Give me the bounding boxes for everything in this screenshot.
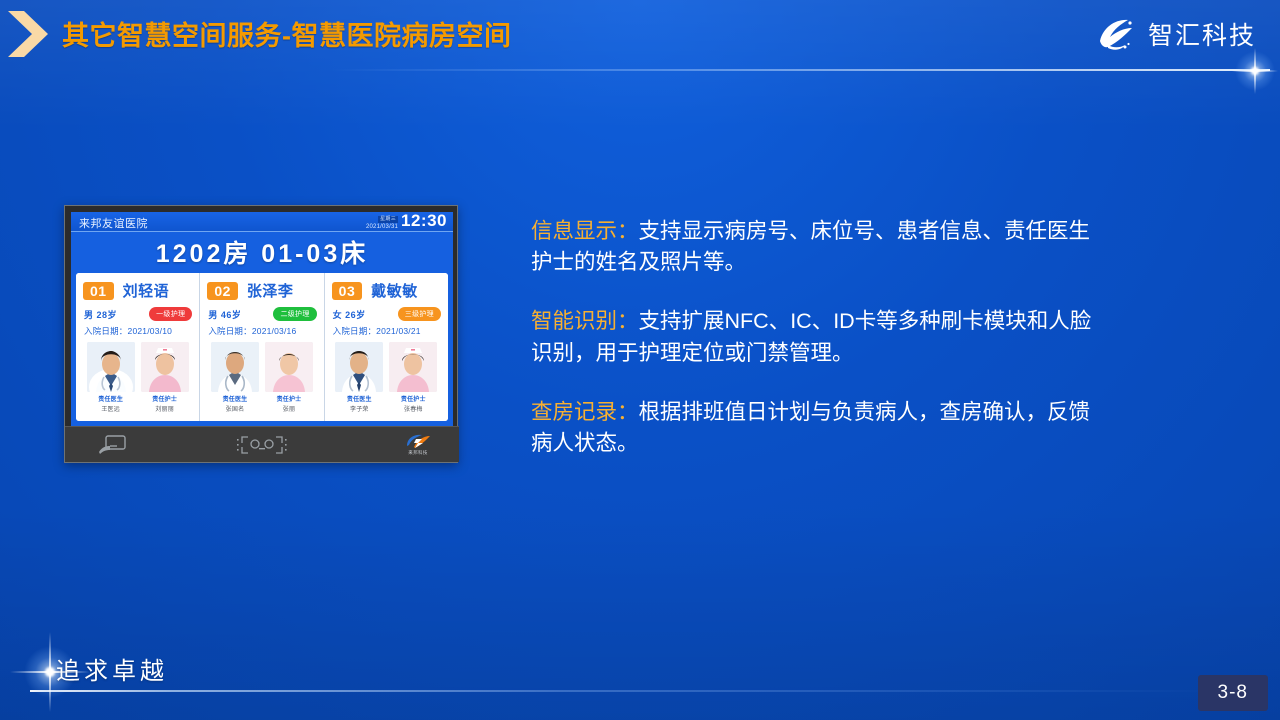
doctor-block: 责任医生 李子荣 — [335, 342, 383, 413]
staff-row: 责任医生 王医远 — [80, 342, 195, 413]
admit-date-value: 2021/03/21 — [376, 326, 421, 336]
footer-slogan: 追求卓越 — [56, 651, 168, 686]
bullet-text-line1: 支持扩展NFC、IC、ID卡等多种刷卡模块和人脸 — [639, 309, 1092, 333]
doctor-block: 责任医生 张国名 — [211, 342, 259, 413]
vendor-logo-text: 来邦科技 — [408, 450, 428, 456]
bullet-label: 信息显示： — [531, 219, 639, 243]
admit-date-label: 入院日期： — [333, 326, 377, 336]
bullet-text-line1: 根据排班值日计划与负责病人，查房确认，反馈 — [639, 400, 1091, 424]
slide-header: 其它智慧空间服务-智慧医院病房空间 智汇科技 — [0, 0, 1280, 70]
nurse-role-label: 责任护士 — [401, 394, 426, 403]
admit-date-row: 入院日期：2021/03/16 — [204, 325, 319, 337]
bullet-label: 智能识别： — [531, 309, 639, 333]
page-title: 其它智慧空间服务-智慧医院病房空间 — [62, 14, 512, 53]
patient-meta-row: 女 26岁 三级护理 — [329, 307, 444, 321]
screen-status-bar: 来邦友谊医院 星期三 2021/03/31 12:30 — [71, 212, 453, 232]
device-screen: 来邦友谊医院 星期三 2021/03/31 12:30 1202房 01-03床… — [71, 212, 453, 427]
nurse-photo — [265, 342, 313, 392]
nurse-block: 责任护士 刘丽丽 — [141, 342, 189, 413]
doctor-role-label: 责任医生 — [223, 394, 248, 403]
doctor-photo — [211, 342, 259, 392]
admit-date-label: 入院日期： — [84, 326, 128, 336]
doctor-photo — [87, 342, 135, 392]
bed-card-header: 03 戴敏敏 — [329, 280, 444, 301]
staff-row: 责任医生 张国名 责任护士 张丽 — [204, 342, 319, 413]
device-bezel: 来邦科技 — [65, 426, 459, 462]
bullet-text-line2: 护士的姓名及照片等。 — [531, 250, 746, 274]
vendor-logo-icon — [403, 433, 433, 449]
doctor-role-label: 责任医生 — [98, 394, 123, 403]
nurse-role-label: 责任护士 — [152, 394, 177, 403]
doctor-name: 张国名 — [226, 404, 245, 413]
patient-sex-age: 男 46岁 — [208, 308, 241, 321]
bed-card-header: 02 张泽李 — [204, 280, 319, 301]
footer-divider-line — [30, 690, 1220, 692]
nurse-photo — [389, 342, 437, 392]
doctor-name: 李子荣 — [350, 404, 369, 413]
time-label: 12:30 — [401, 212, 447, 230]
bed-number-badge: 03 — [332, 282, 363, 300]
hospital-name: 来邦友谊医院 — [79, 215, 148, 231]
patient-name: 刘轻语 — [123, 280, 170, 301]
patient-meta-row: 男 28岁 一级护理 — [80, 307, 195, 321]
bullet-text-line2: 识别，用于护理定位或门禁管理。 — [531, 341, 854, 365]
nurse-block: 责任护士 张春梅 — [389, 342, 437, 413]
date-label: 2021/03/31 — [366, 224, 398, 230]
nurse-photo — [141, 342, 189, 392]
nurse-name: 张丽 — [283, 404, 295, 413]
brand-name: 智汇科技 — [1148, 16, 1256, 52]
patient-meta-row: 男 46岁 二级护理 — [204, 307, 319, 321]
doctor-name: 王医远 — [101, 404, 120, 413]
doctor-role-label: 责任医生 — [347, 394, 372, 403]
screen-clock: 星期三 2021/03/31 12:30 — [366, 212, 447, 230]
bed-number-badge: 02 — [207, 282, 238, 300]
admit-date-row: 入院日期：2021/03/21 — [329, 325, 444, 337]
bed-number-badge: 01 — [83, 282, 114, 300]
bed-card[interactable]: 01 刘轻语 男 28岁 一级护理 入院日期：2021/03/10 — [76, 273, 199, 421]
bullet-label: 查房记录： — [531, 400, 639, 424]
weekday-label: 星期三 — [378, 216, 398, 223]
vendor-logo: 来邦科技 — [401, 433, 435, 457]
bullet-text-line1: 支持显示病房号、床位号、患者信息、责任医生 — [639, 219, 1091, 243]
card-swipe-icon[interactable] — [97, 434, 127, 456]
zhihui-logo-mark-icon — [1094, 14, 1140, 54]
patient-sex-age: 女 26岁 — [333, 308, 366, 321]
bed-card-list: 01 刘轻语 男 28岁 一级护理 入院日期：2021/03/10 — [76, 273, 448, 421]
nurse-role-label: 责任护士 — [277, 394, 302, 403]
bullet-item: 信息显示：支持显示病房号、床位号、患者信息、责任医生 护士的姓名及照片等。 — [531, 216, 1171, 278]
patient-sex-age: 男 28岁 — [84, 308, 117, 321]
face-recognition-icon[interactable] — [236, 436, 288, 454]
patient-name: 戴敏敏 — [371, 280, 418, 301]
chevron-right-icon — [2, 8, 60, 60]
ward-display-device: 来邦友谊医院 星期三 2021/03/31 12:30 1202房 01-03床… — [64, 205, 458, 463]
nurse-name: 张春梅 — [404, 404, 423, 413]
bullet-item: 查房记录：根据排班值日计划与负责病人，查房确认，反馈 病人状态。 — [531, 397, 1171, 459]
admit-date-label: 入院日期： — [208, 326, 252, 336]
bullet-item: 智能识别：支持扩展NFC、IC、ID卡等多种刷卡模块和人脸 识别，用于护理定位或… — [531, 306, 1171, 368]
bullet-text-line2: 病人状态。 — [531, 431, 639, 455]
admit-date-row: 入院日期：2021/03/10 — [80, 325, 195, 337]
care-level-badge: 一级护理 — [149, 307, 192, 321]
room-title: 1202房 01-03床 — [71, 232, 453, 272]
bed-card[interactable]: 02 张泽李 男 46岁 二级护理 入院日期：2021/03/16 — [199, 273, 323, 421]
nurse-name: 刘丽丽 — [155, 404, 174, 413]
bed-card-header: 01 刘轻语 — [80, 280, 195, 301]
admit-date-value: 2021/03/10 — [128, 326, 173, 336]
brand-logo: 智汇科技 — [1094, 14, 1256, 54]
admit-date-value: 2021/03/16 — [252, 326, 297, 336]
care-level-badge: 二级护理 — [273, 307, 316, 321]
staff-row: 责任医生 李子荣 — [329, 342, 444, 413]
nurse-block: 责任护士 张丽 — [265, 342, 313, 413]
page-number-badge: 3-8 — [1198, 675, 1268, 711]
care-level-badge: 三级护理 — [398, 307, 441, 321]
feature-bullet-list: 信息显示：支持显示病房号、床位号、患者信息、责任医生 护士的姓名及照片等。 智能… — [531, 216, 1171, 487]
doctor-block: 责任医生 王医远 — [87, 342, 135, 413]
header-divider-line — [330, 69, 1270, 71]
doctor-photo — [335, 342, 383, 392]
bed-card[interactable]: 03 戴敏敏 女 26岁 三级护理 入院日期：2021/03/21 — [324, 273, 448, 421]
patient-name: 张泽李 — [247, 280, 294, 301]
